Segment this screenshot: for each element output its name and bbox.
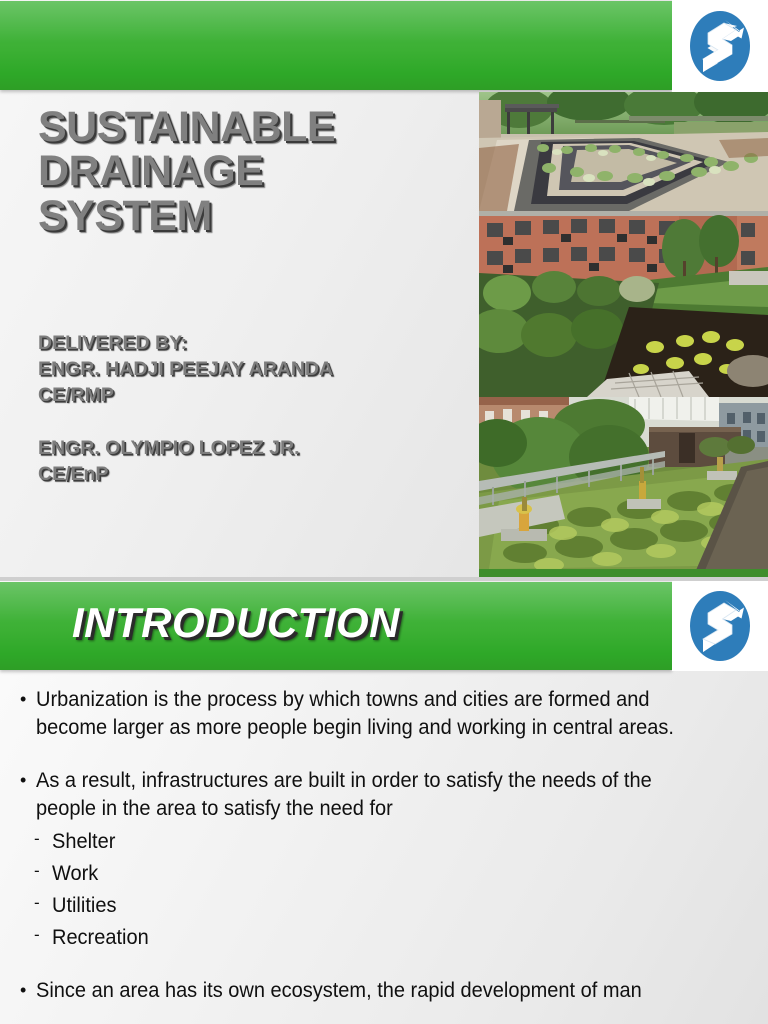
presentation-page: SUSTAINABLE DRAINAGE SYSTEM DELIVERED BY… — [0, 0, 768, 1024]
bullet-item: • As a result, infrastructures are built… — [20, 767, 750, 822]
sub-bullet-text: Utilities — [52, 890, 116, 922]
zigzag-arrow-logo-icon — [684, 586, 756, 666]
bullet-marker-icon: • — [20, 767, 36, 793]
bullet-item: • Since an area has its own ecosystem, t… — [20, 977, 750, 1005]
bullet-text: As a result, infrastructures are built i… — [36, 767, 700, 822]
slide-introduction: INTRODUCTION • Urbanization is the proce… — [0, 581, 768, 1024]
photo-stack — [479, 92, 768, 577]
bullet-marker-icon: • — [20, 686, 36, 712]
dash-marker-icon: - — [34, 858, 52, 883]
sub-bullet-text: Work — [52, 858, 98, 890]
brick-apartment-rain-garden-photo — [479, 211, 768, 397]
sub-bullet-text: Shelter — [52, 826, 115, 858]
introduction-body: • Urbanization is the process by which t… — [0, 686, 768, 1024]
green-roof-garden-photo — [479, 397, 768, 577]
bullet-text: Urbanization is the process by which tow… — [36, 686, 700, 741]
list-item: - Utilities — [20, 890, 750, 922]
presenter-credits: DELIVERED BY: ENGR. HADJI PEEJAY ARANDA … — [38, 330, 468, 487]
slide-title: SUSTAINABLE DRAINAGE SYSTEM DELIVERED BY… — [0, 0, 768, 577]
section-heading: INTRODUCTION — [72, 599, 400, 647]
zigzag-arrow-logo-icon — [684, 6, 756, 86]
dash-marker-icon: - — [34, 826, 52, 851]
bullet-text: Since an area has its own ecosystem, the… — [36, 977, 700, 1005]
dash-marker-icon: - — [34, 922, 52, 947]
slide-title-logo-container — [672, 0, 768, 92]
bullet-marker-icon: • — [20, 977, 36, 1003]
sub-bullet-text: Recreation — [52, 922, 149, 954]
sub-bullet-list: - Shelter - Work - Utilities - Recreatio… — [20, 826, 750, 953]
page-title: SUSTAINABLE DRAINAGE SYSTEM — [38, 105, 468, 238]
list-item: - Work — [20, 858, 750, 890]
dash-marker-icon: - — [34, 890, 52, 915]
slide-introduction-logo-container — [672, 581, 768, 671]
bullet-item: • Urbanization is the process by which t… — [20, 686, 750, 741]
list-item: - Shelter — [20, 826, 750, 858]
rain-garden-bioswale-photo — [479, 92, 768, 211]
slide-title-green-banner — [0, 1, 672, 90]
list-item: - Recreation — [20, 922, 750, 954]
